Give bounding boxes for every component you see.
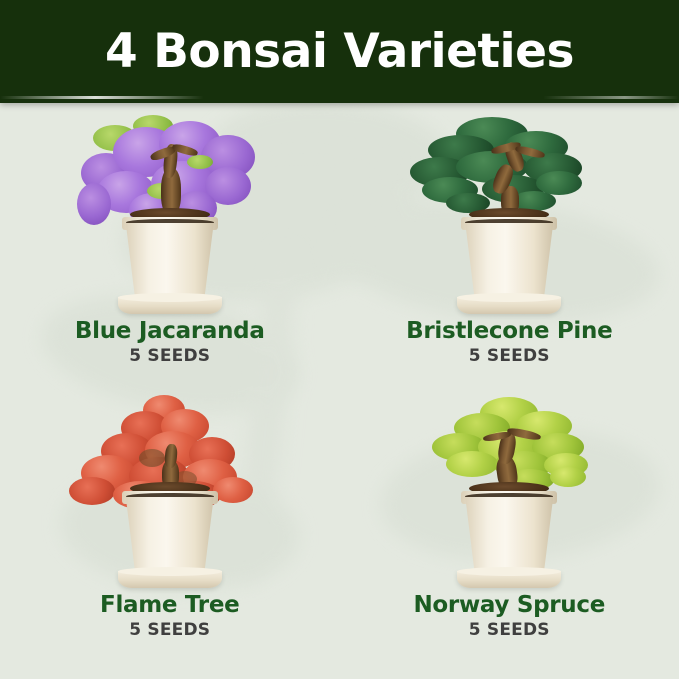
variety-name: Blue Jacaranda <box>75 318 265 344</box>
bonsai-jacaranda-icon <box>55 109 285 314</box>
page-title: 4 Bonsai Varieties <box>105 28 574 75</box>
product-image: 4 Bonsai Varieties <box>0 0 679 679</box>
variety-seed-count: 5 SEEDS <box>129 619 210 641</box>
variety-name: Bristlecone Pine <box>406 318 612 344</box>
variety-name: Flame Tree <box>100 592 239 618</box>
variety-label: Bristlecone Pine 5 SEEDS <box>406 318 612 368</box>
variety-seed-count: 5 SEEDS <box>469 345 550 367</box>
bonsai-flame-tree-icon <box>55 393 285 588</box>
variety-label: Blue Jacaranda 5 SEEDS <box>75 318 265 368</box>
bonsai-pine-icon <box>394 109 624 314</box>
variety-label: Flame Tree 5 SEEDS <box>100 592 239 642</box>
variety-seed-count: 5 SEEDS <box>129 345 210 367</box>
bonsai-spruce-icon <box>394 393 624 588</box>
variety-name: Norway Spruce <box>413 592 605 618</box>
variety-card-flame-tree: Flame Tree 5 SEEDS <box>0 391 340 679</box>
variety-grid: Blue Jacaranda 5 SEEDS <box>0 103 679 679</box>
variety-card-blue-jacaranda: Blue Jacaranda 5 SEEDS <box>0 103 340 391</box>
variety-label: Norway Spruce 5 SEEDS <box>413 592 605 642</box>
header-banner: 4 Bonsai Varieties <box>0 0 679 103</box>
variety-card-norway-spruce: Norway Spruce 5 SEEDS <box>340 391 679 679</box>
variety-card-bristlecone-pine: Bristlecone Pine 5 SEEDS <box>340 103 679 391</box>
variety-seed-count: 5 SEEDS <box>469 619 550 641</box>
